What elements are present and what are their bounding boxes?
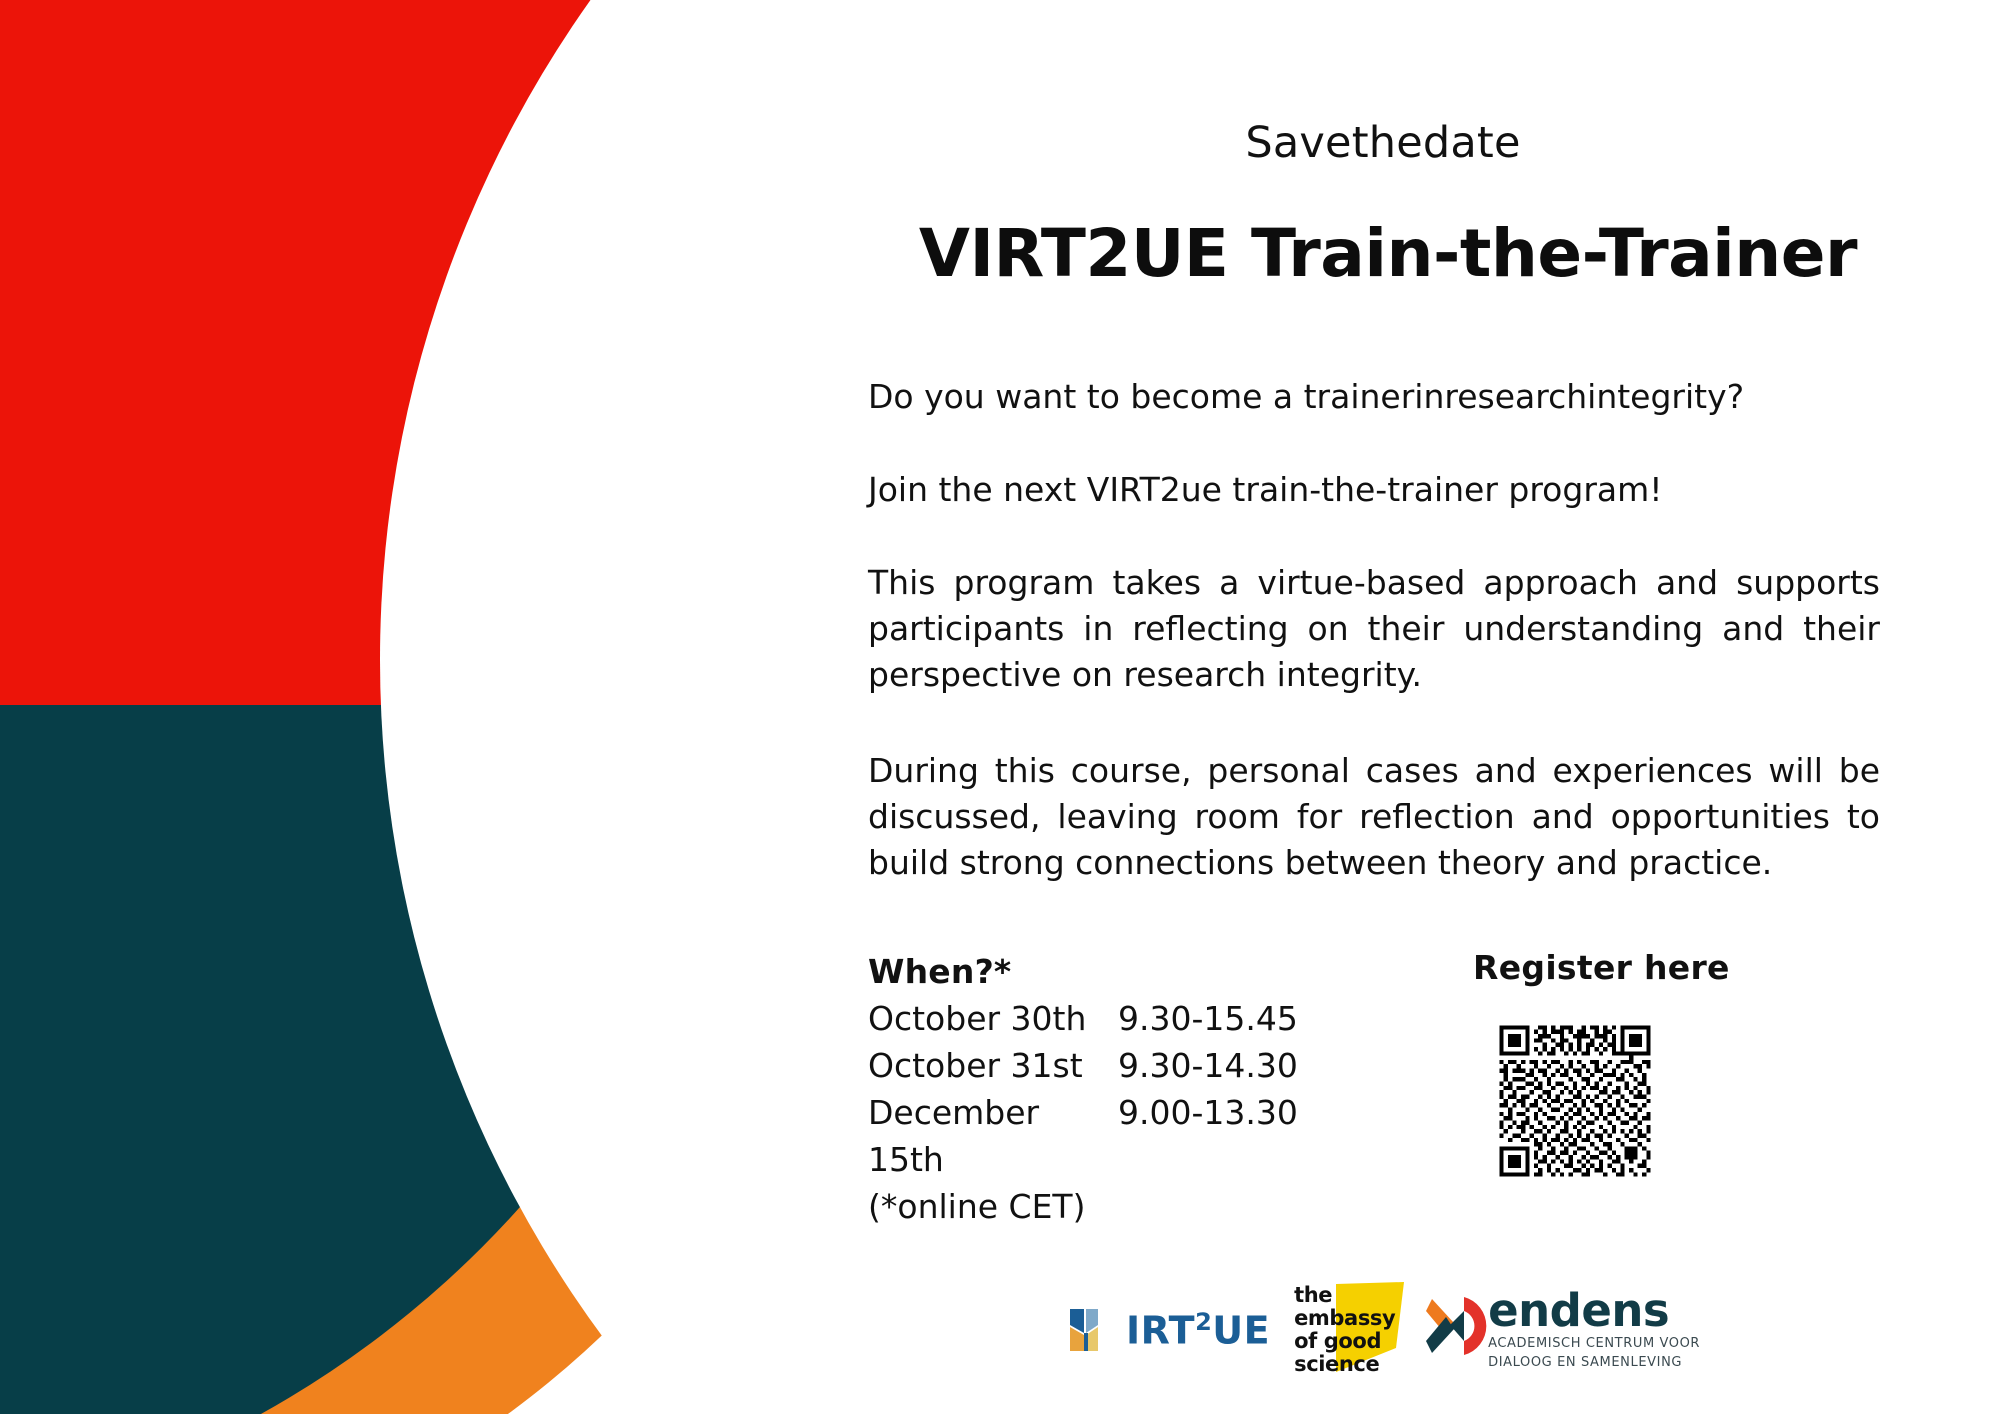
embassy-line-4: science bbox=[1294, 1353, 1395, 1376]
page-title: VIRT2UE Train-the-Trainer bbox=[878, 215, 1898, 292]
poster-content: Savethedate VIRT2UE Train-the-Trainer Do… bbox=[868, 0, 1898, 1414]
embassy-of-good-science-logo: the embassy of good science bbox=[1292, 1282, 1408, 1378]
embassy-wordmark: the embassy of good science bbox=[1294, 1284, 1395, 1376]
paragraph-join: Join the next VIRT2ue train-the-trainer … bbox=[868, 467, 1880, 513]
session-row: October 31st 9.30-14.30 bbox=[868, 1042, 1338, 1089]
xendens-logo: endens ACADEMISCH CENTRUM VOOR DIALOOG E… bbox=[1424, 1289, 1700, 1371]
xendens-subtitle-line-1: ACADEMISCH CENTRUM VOOR bbox=[1488, 1336, 1700, 1352]
paragraph-program-description: This program takes a virtue-based approa… bbox=[868, 560, 1880, 698]
embassy-line-3: of good bbox=[1294, 1330, 1395, 1353]
session-row: December 15th 9.00-13.30 bbox=[868, 1089, 1338, 1183]
virt2ue-word-main: IRT bbox=[1126, 1309, 1195, 1353]
session-time: 9.30-15.45 bbox=[1118, 995, 1318, 1042]
xendens-name: endens bbox=[1488, 1289, 1700, 1333]
virt2ue-word-sup: 2 bbox=[1195, 1308, 1212, 1336]
embassy-line-2: embassy bbox=[1294, 1307, 1395, 1330]
xendens-x-mark bbox=[1424, 1291, 1494, 1361]
virt2ue-logo: IRT2UE bbox=[1066, 1303, 1270, 1357]
virt2ue-word-tail: UE bbox=[1212, 1309, 1270, 1353]
session-row: October 30th 9.30-15.45 bbox=[868, 995, 1338, 1042]
session-date: October 30th bbox=[868, 995, 1118, 1042]
xendens-subtitle-line-2: DIALOOG EN SAMENLEVING bbox=[1488, 1355, 1700, 1371]
eyebrow-savethedate: Savethedate bbox=[868, 118, 1898, 168]
virt2ue-wordmark: IRT2UE bbox=[1126, 1310, 1270, 1350]
when-heading: When?* bbox=[868, 948, 1338, 995]
paragraph-question: Do you want to become a trainerinresearc… bbox=[868, 374, 1880, 420]
when-block: When?* October 30th 9.30-15.45 October 3… bbox=[868, 948, 1338, 1230]
session-date: October 31st bbox=[868, 1042, 1118, 1089]
register-heading: Register here bbox=[1473, 948, 1823, 987]
session-time: 9.00-13.30 bbox=[1118, 1089, 1318, 1183]
qr-code[interactable] bbox=[1495, 1021, 1655, 1181]
paragraph-course-description: During this course, personal cases and e… bbox=[868, 748, 1880, 886]
virt2ue-v-mark bbox=[1066, 1303, 1120, 1357]
when-note: (*online CET) bbox=[868, 1183, 1338, 1230]
register-block: Register here bbox=[1423, 948, 1823, 1181]
logo-strip: IRT2UE the embassy of good science bbox=[868, 1282, 1898, 1378]
session-time: 9.30-14.30 bbox=[1118, 1042, 1318, 1089]
session-date: December 15th bbox=[868, 1089, 1118, 1183]
embassy-line-1: the bbox=[1294, 1284, 1395, 1307]
